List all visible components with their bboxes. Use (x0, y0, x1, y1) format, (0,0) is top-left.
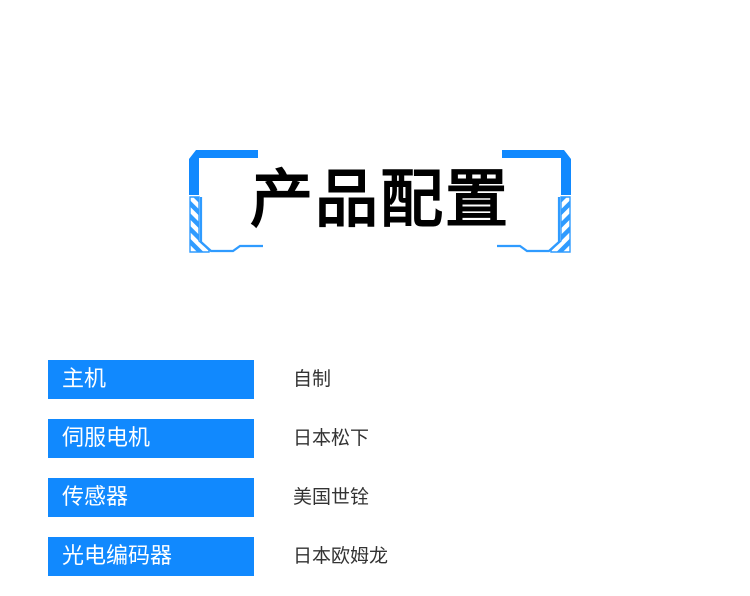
table-row: 伺服电机 日本松下 (48, 419, 708, 458)
product-spec-table: 主机 自制 伺服电机 日本松下 传感器 美国世铨 光电编码器 日本欧姆龙 (48, 360, 708, 596)
spec-label-host: 主机 (48, 360, 254, 399)
spec-value-sensor: 美国世铨 (293, 478, 369, 517)
spec-label-sensor: 传感器 (48, 478, 254, 517)
table-row: 主机 自制 (48, 360, 708, 399)
spec-label-servo-motor: 伺服电机 (48, 419, 254, 458)
spec-value-servo-motor: 日本松下 (293, 419, 369, 458)
spec-value-host: 自制 (293, 360, 331, 399)
spec-label-photoelectric-encoder: 光电编码器 (48, 537, 254, 576)
page-title-banner: 产品配置 (185, 138, 575, 263)
table-row: 传感器 美国世铨 (48, 478, 708, 517)
page-title: 产品配置 (185, 138, 575, 263)
table-row: 光电编码器 日本欧姆龙 (48, 537, 708, 576)
spec-value-photoelectric-encoder: 日本欧姆龙 (293, 537, 388, 576)
